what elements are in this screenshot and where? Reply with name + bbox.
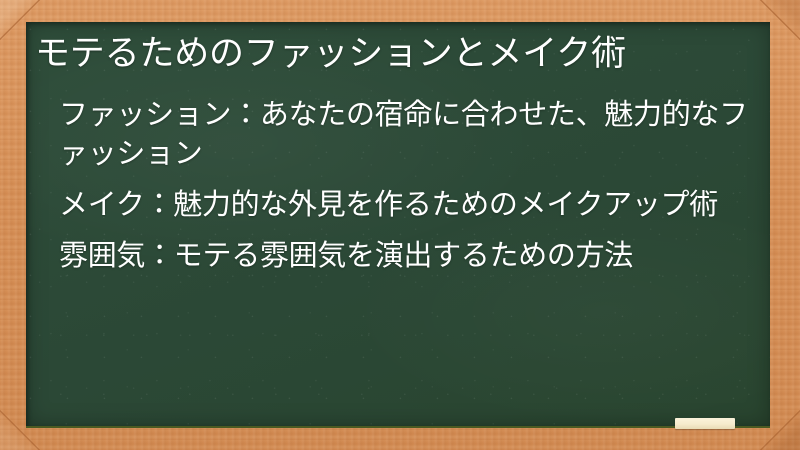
board-content: モテるためのファッションとメイク術 ファッション：あなたの宿命に合わせた、魅力的… (26, 22, 770, 276)
bullet-list: ファッション：あなたの宿命に合わせた、魅力的なファッション メイク：魅力的な外見… (35, 96, 752, 275)
list-item: 雰囲気：モテる雰囲気を演出するための方法 (59, 237, 752, 276)
list-item: メイク：魅力的な外見を作るためのメイクアップ術 (59, 186, 752, 225)
chalkboard-slide: モテるためのファッションとメイク術 ファッション：あなたの宿命に合わせた、魅力的… (0, 0, 800, 450)
page-title: モテるためのファッションとメイク術 (35, 33, 752, 74)
chalk-stick-icon (675, 418, 735, 429)
list-item: ファッション：あなたの宿命に合わせた、魅力的なファッション (59, 96, 752, 174)
chalkboard-surface: モテるためのファッションとメイク術 ファッション：あなたの宿命に合わせた、魅力的… (26, 22, 770, 428)
